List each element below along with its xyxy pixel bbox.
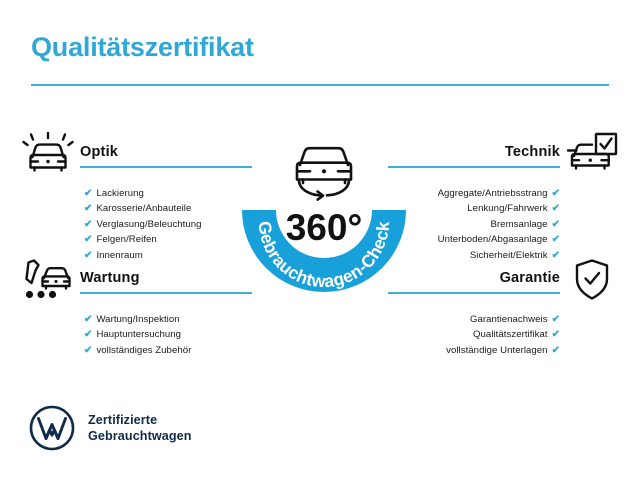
list-item-label: Unterboden/Abgasanlage xyxy=(438,234,548,245)
list-item-label: Verglasung/Beleuchtung xyxy=(96,219,201,230)
wrench-car-icon xyxy=(22,258,74,302)
section-wartung: Wartung ✔Wartung/Inspektion ✔Hauptunters… xyxy=(22,258,252,358)
car-front-shine-icon xyxy=(22,132,74,176)
check-icon: ✔ xyxy=(552,219,560,230)
section-technik: Technik Aggregate/Antriebsstrang✔ Lenkun… xyxy=(388,132,618,263)
list-item-label: Felgen/Reifen xyxy=(96,234,156,245)
list-item: ✔Lackierung xyxy=(84,186,252,201)
vw-certified-logo: Zertifizierte Gebrauchtwagen xyxy=(29,405,192,451)
section-underline xyxy=(80,166,252,168)
check-icon: ✔ xyxy=(84,314,92,325)
badge-center-label: 360° xyxy=(286,207,363,248)
footer-text: Zertifizierte Gebrauchtwagen xyxy=(88,412,192,444)
checklist-wartung: ✔Wartung/Inspektion ✔Hauptuntersuchung ✔… xyxy=(22,312,252,358)
check-icon: ✔ xyxy=(84,345,92,356)
car-front-checkbox-icon xyxy=(566,132,618,176)
check-icon: ✔ xyxy=(552,188,560,199)
list-item-label: Bremsanlage xyxy=(490,219,547,230)
check-icon: ✔ xyxy=(84,188,92,199)
list-item: Qualitätszertifikat✔ xyxy=(388,327,560,342)
list-item-label: Aggregate/Antriebsstrang xyxy=(438,188,548,199)
footer-line-2: Gebrauchtwagen xyxy=(88,428,192,444)
gebrauchtwagen-check-badge: Gebrauchtwagen-Check 360° xyxy=(228,125,420,320)
check-icon: ✔ xyxy=(84,234,92,245)
list-item: ✔Hauptuntersuchung xyxy=(84,327,252,342)
check-icon: ✔ xyxy=(552,203,560,214)
section-garantie: Garantie Garantienachweis✔ Qualitätszert… xyxy=(388,258,618,358)
list-item-label: Karosserie/Anbauteile xyxy=(96,203,191,214)
car-rotate-360-icon xyxy=(297,148,351,199)
list-item: ✔Wartung/Inspektion xyxy=(84,312,252,327)
list-item-label: vollständiges Zubehör xyxy=(96,345,191,356)
list-item-label: Lackierung xyxy=(96,188,143,199)
section-title: Optik xyxy=(80,145,252,161)
list-item: ✔Karosserie/Anbauteile xyxy=(84,201,252,216)
section-header: Wartung xyxy=(22,258,252,304)
list-item: ✔Verglasung/Beleuchtung xyxy=(84,217,252,232)
checklist-technik: Aggregate/Antriebsstrang✔ Lenkung/Fahrwe… xyxy=(388,186,618,263)
section-underline xyxy=(80,292,252,294)
list-item: ✔Felgen/Reifen xyxy=(84,232,252,247)
list-item: ✔vollständiges Zubehör xyxy=(84,343,252,358)
list-item-label: Qualitätszertifikat xyxy=(473,329,548,340)
list-item-label: vollständige Unterlagen xyxy=(446,345,547,356)
checklist-optik: ✔Lackierung ✔Karosserie/Anbauteile ✔Verg… xyxy=(22,186,252,263)
vw-roundel-logo xyxy=(29,405,75,451)
shield-check-icon xyxy=(566,258,618,302)
check-icon: ✔ xyxy=(552,234,560,245)
list-item-label: Hauptuntersuchung xyxy=(96,329,181,340)
section-header: Technik xyxy=(388,132,618,178)
section-header: Optik xyxy=(22,132,252,178)
check-icon: ✔ xyxy=(84,329,92,340)
header-divider xyxy=(31,84,609,86)
checklist-garantie: Garantienachweis✔ Qualitätszertifikat✔ v… xyxy=(388,312,618,358)
section-optik: Optik ✔Lackierung ✔Karosserie/Anbauteile… xyxy=(22,132,252,263)
check-icon: ✔ xyxy=(84,219,92,230)
page-title: Qualitätszertifikat xyxy=(31,32,254,63)
footer-line-1: Zertifizierte xyxy=(88,412,192,428)
check-icon: ✔ xyxy=(84,203,92,214)
list-item: vollständige Unterlagen✔ xyxy=(388,343,560,358)
section-title: Wartung xyxy=(80,271,252,287)
list-item-label: Wartung/Inspektion xyxy=(96,314,179,325)
list-item-label: Lenkung/Fahrwerk xyxy=(467,203,547,214)
check-icon: ✔ xyxy=(552,329,560,340)
section-header: Garantie xyxy=(388,258,618,304)
list-item-label: Garantienachweis xyxy=(470,314,548,325)
check-icon: ✔ xyxy=(552,314,560,325)
check-icon: ✔ xyxy=(552,345,560,356)
